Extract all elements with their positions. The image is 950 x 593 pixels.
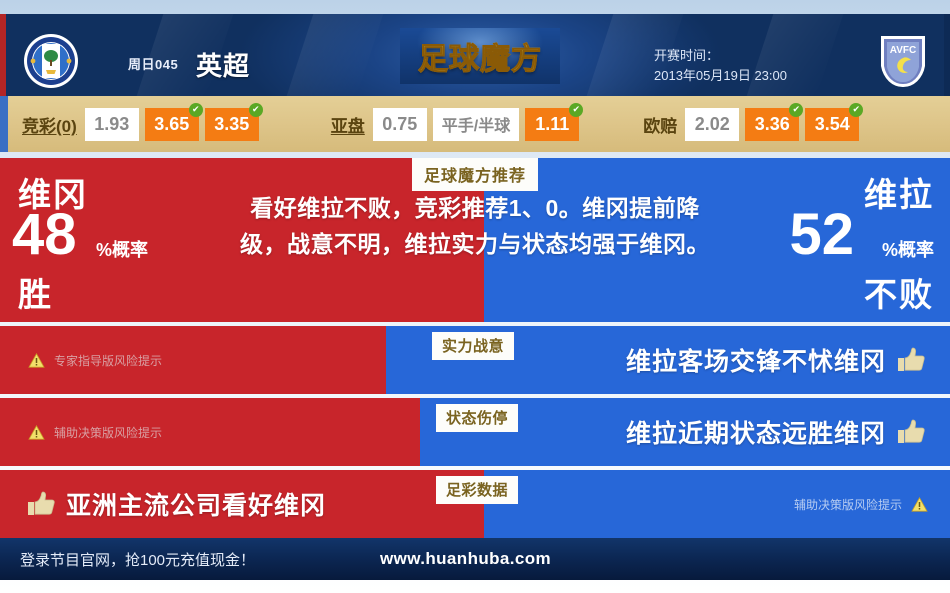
analysis-statement-text: 亚洲主流公司看好维冈 bbox=[66, 486, 326, 522]
analysis-statement: 维拉近期状态远胜维冈 bbox=[626, 414, 950, 450]
analysis-row-right: 辅助决策版风险提示 bbox=[484, 470, 950, 538]
odds-value: 1.11 bbox=[535, 114, 569, 135]
match-round-label: 周日045 bbox=[128, 54, 178, 73]
thumbs-up-icon bbox=[896, 419, 926, 445]
kickoff-label: 开赛时间： bbox=[654, 46, 854, 66]
kickoff-time: 2013年05月19日 23:00 bbox=[654, 66, 854, 86]
analysis-row-left: 辅助决策版风险提示 bbox=[0, 398, 420, 466]
odds-group-label: 竞彩(0) bbox=[22, 112, 77, 137]
analysis-row-left: 专家指导版风险提示 bbox=[0, 326, 386, 394]
kickoff-info: 开赛时间： 2013年05月19日 23:00 bbox=[654, 46, 854, 86]
risk-note: 专家指导版风险提示 bbox=[0, 352, 162, 369]
home-probability-suffix: %概率 bbox=[96, 236, 148, 262]
odds-cell[interactable]: 1.11 ✔ bbox=[525, 108, 579, 141]
analysis-statement: 亚洲主流公司看好维冈 bbox=[0, 486, 326, 522]
odds-cell[interactable]: 0.75 bbox=[373, 108, 427, 141]
away-probability-value: 52 bbox=[789, 206, 854, 264]
home-verdict: 胜 bbox=[18, 268, 53, 316]
warning-icon bbox=[28, 425, 45, 440]
odds-cell[interactable]: 3.65 ✔ bbox=[145, 108, 199, 141]
odds-group-oupei: 欧赔 2.02 3.36 ✔ 3.54 ✔ bbox=[643, 108, 865, 141]
brand-logo-text: 足球魔方 bbox=[418, 34, 542, 78]
odds-value: 3.65 bbox=[154, 114, 189, 135]
odds-bar: 竞彩(0) 1.93 3.65 ✔ 3.35 ✔ 亚盘 0.75 平手/半球 1… bbox=[0, 96, 950, 152]
odds-group-jingcai: 竞彩(0) 1.93 3.65 ✔ 3.35 ✔ bbox=[22, 108, 265, 141]
check-icon: ✔ bbox=[189, 103, 203, 117]
away-team-crest-icon: AVFC bbox=[874, 32, 932, 90]
risk-note-text: 辅助决策版风险提示 bbox=[54, 424, 162, 441]
thumbs-up-icon bbox=[896, 347, 926, 373]
odds-value: 3.36 bbox=[755, 114, 790, 135]
analysis-row-left: 亚洲主流公司看好维冈 bbox=[0, 470, 484, 538]
odds-value: 3.35 bbox=[214, 114, 249, 135]
recommendation-badge: 足球魔方推荐 bbox=[412, 158, 538, 191]
risk-note: 辅助决策版风险提示 bbox=[0, 424, 162, 441]
odds-cell[interactable]: 2.02 bbox=[685, 108, 739, 141]
odds-group-label: 亚盘 bbox=[331, 112, 365, 137]
footer-bar: 登录节目官网，抢100元充值现金！ www.huanhuba.com bbox=[0, 538, 950, 580]
odds-group-label: 欧赔 bbox=[643, 112, 677, 137]
site-url[interactable]: www.huanhuba.com bbox=[380, 549, 551, 569]
odds-value: 3.54 bbox=[815, 114, 850, 135]
analysis-statement-text: 维拉近期状态远胜维冈 bbox=[626, 414, 886, 450]
header-diagonal-sheen bbox=[287, 14, 384, 96]
brand-logo: 足球魔方 bbox=[400, 28, 560, 84]
analysis-statement: 维拉客场交锋不怵维冈 bbox=[626, 342, 950, 378]
check-icon: ✔ bbox=[249, 103, 263, 117]
away-probability-suffix: %概率 bbox=[882, 236, 934, 262]
analysis-statement-text: 维拉客场交锋不怵维冈 bbox=[626, 342, 886, 378]
category-badge: 状态伤停 bbox=[436, 404, 518, 432]
match-league-name: 英超 bbox=[196, 46, 250, 83]
home-team-crest-icon bbox=[22, 32, 80, 90]
odds-group-yapan: 亚盘 0.75 平手/半球 1.11 ✔ bbox=[331, 108, 585, 141]
risk-note-text: 辅助决策版风险提示 bbox=[794, 496, 902, 513]
broadcast-graphic: 周日045 英超 足球魔方 开赛时间： 2013年05月19日 23:00 AV… bbox=[0, 0, 950, 593]
away-verdict: 不败 bbox=[864, 268, 934, 316]
category-badge: 足彩数据 bbox=[436, 476, 518, 504]
risk-note: 辅助决策版风险提示 bbox=[794, 496, 950, 513]
check-icon: ✔ bbox=[849, 103, 863, 117]
check-icon: ✔ bbox=[789, 103, 803, 117]
odds-cell[interactable]: 3.36 ✔ bbox=[745, 108, 799, 141]
odds-cell[interactable]: 1.93 bbox=[85, 108, 139, 141]
odds-cell[interactable]: 平手/半球 bbox=[433, 108, 519, 141]
away-team-name: 维拉 bbox=[864, 168, 934, 216]
category-badge: 实力战意 bbox=[432, 332, 514, 360]
odds-cell[interactable]: 3.35 ✔ bbox=[205, 108, 259, 141]
promo-text: 登录节目官网，抢100元充值现金！ bbox=[20, 549, 255, 570]
warning-icon bbox=[28, 353, 45, 368]
recommendation-text: 看好维拉不败，竞彩推荐1、0。维冈提前降级，战意不明，维拉实力与状态均强于维冈。 bbox=[238, 190, 712, 262]
check-icon: ✔ bbox=[569, 103, 583, 117]
home-probability-value: 48 bbox=[12, 206, 77, 264]
thumbs-up-icon bbox=[26, 491, 56, 517]
svg-text:AVFC: AVFC bbox=[890, 45, 916, 56]
odds-cell[interactable]: 3.54 ✔ bbox=[805, 108, 859, 141]
risk-note-text: 专家指导版风险提示 bbox=[54, 352, 162, 369]
warning-icon bbox=[911, 497, 928, 512]
match-header: 周日045 英超 足球魔方 开赛时间： 2013年05月19日 23:00 AV… bbox=[0, 14, 950, 96]
